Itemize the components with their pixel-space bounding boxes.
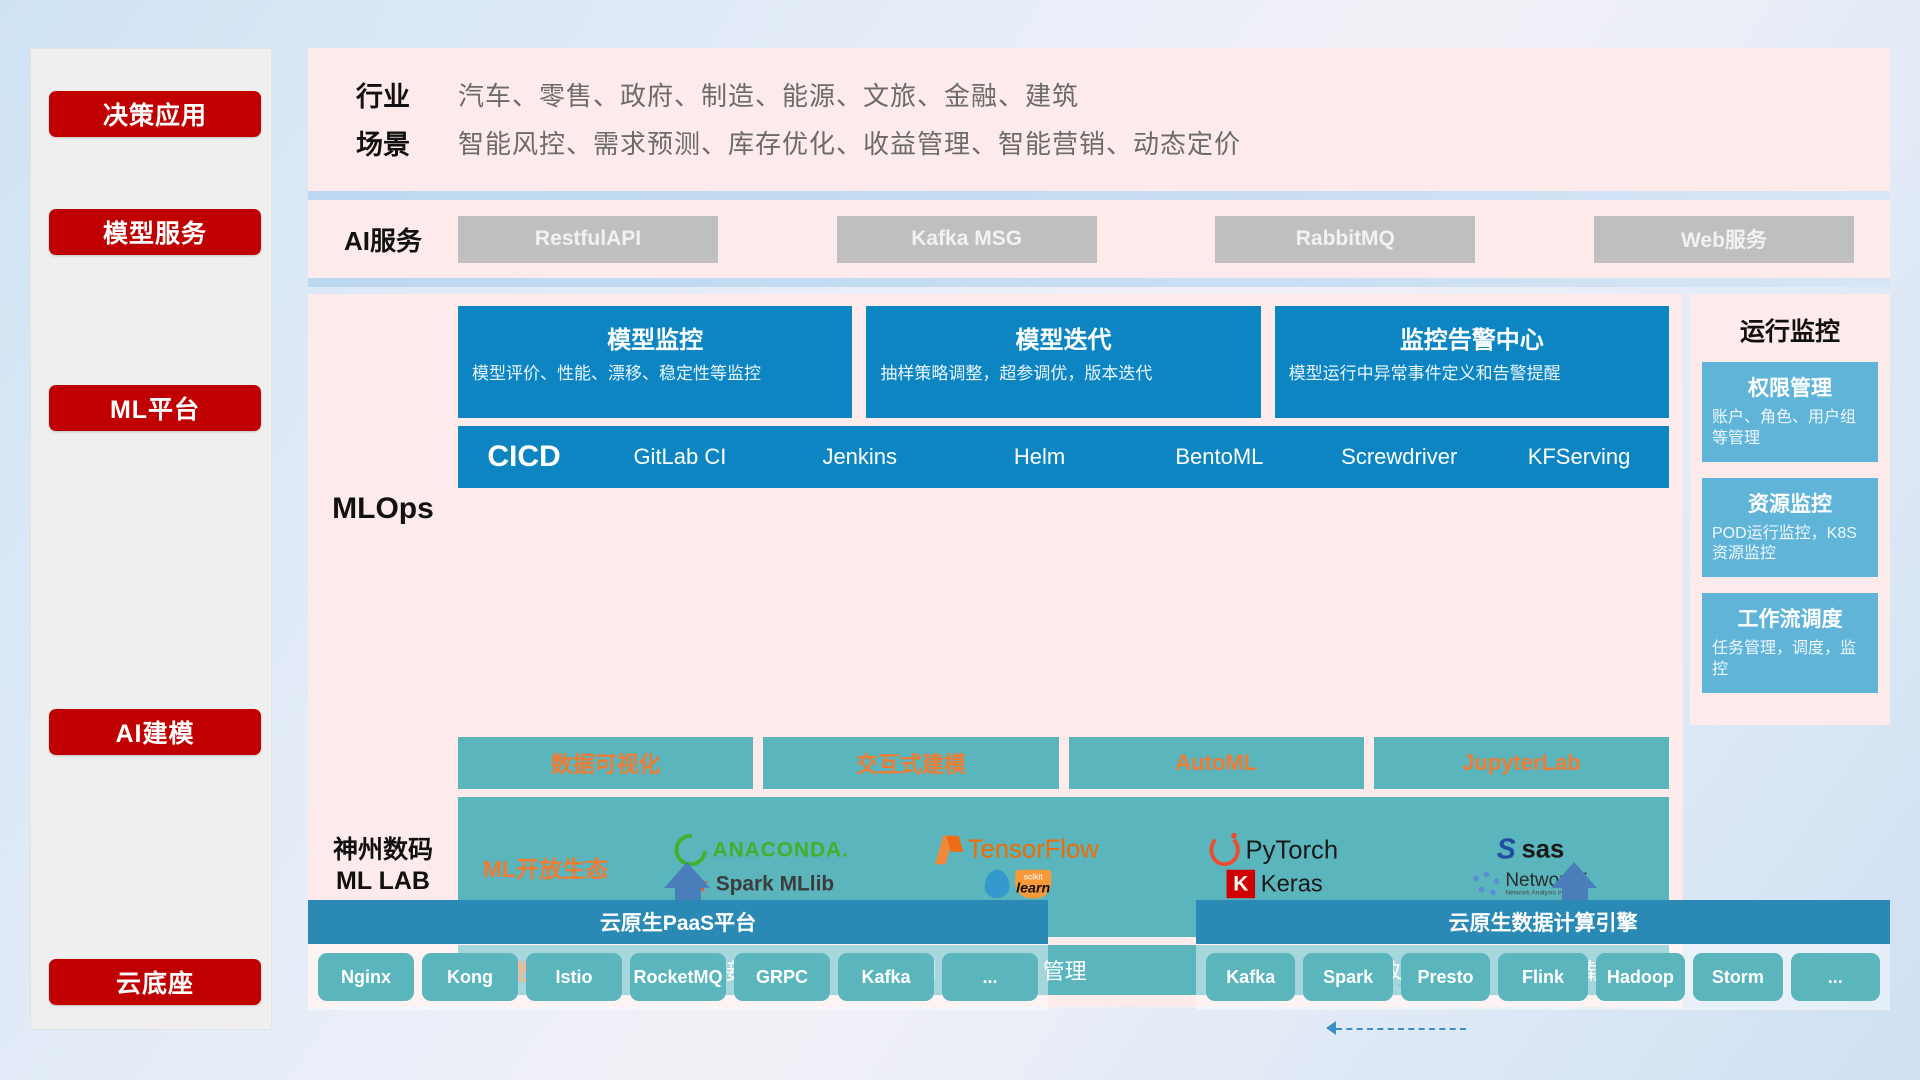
sas-logo-text: sas — [1522, 835, 1565, 864]
paas-chip-rocketmq[interactable]: RocketMQ — [630, 953, 726, 1001]
tab-label: 交互式建模 — [856, 747, 966, 779]
layer-rail: 决策应用 模型服务 ML平台 AI建模 云底座 — [30, 48, 272, 1030]
paas-chip-kafka[interactable]: Kafka — [838, 953, 934, 1001]
decision-app-band: 行业 汽车、零售、政府、制造、能源、文旅、金融、建筑 场景 智能风控、需求预测、… — [308, 48, 1890, 191]
compute-chip-kafka[interactable]: Kafka — [1206, 953, 1295, 1001]
cloud-base-section: 云原生PaaS平台 Nginx Kong Istio RocketMQ GRPC… — [308, 862, 1890, 1022]
chip-label: ... — [982, 968, 997, 987]
industry-label: 行业 — [308, 75, 458, 114]
service-chip-label: RabbitMQ — [1296, 227, 1395, 251]
rail-item-label: 决策应用 — [103, 96, 207, 132]
paas-platform-title: 云原生PaaS平台 — [308, 900, 1048, 944]
mlops-label: MLOps — [308, 306, 458, 713]
tensorflow-logo-text: TensorFlow — [967, 835, 1098, 864]
tab-label: 数据可视化 — [551, 747, 661, 779]
rail-item-decision-app[interactable]: 决策应用 — [49, 91, 261, 137]
service-chip-kafka-msg[interactable]: Kafka MSG — [837, 216, 1097, 263]
tensorflow-logo: TensorFlow — [937, 835, 1099, 864]
rail-item-label: ML平台 — [110, 390, 200, 426]
compute-chips: Kafka Spark Presto Flink Hadoop Storm ..… — [1196, 944, 1890, 1010]
rail-item-label: 模型服务 — [103, 214, 207, 250]
service-chip-label: Web服务 — [1681, 224, 1767, 254]
cicd-items: GitLab CI Jenkins Helm BentoML Screwdriv… — [590, 446, 1669, 468]
mlops-cards: 模型监控 模型评价、性能、漂移、稳定性等监控 模型迭代 抽样策略调整，超参调优，… — [458, 306, 1669, 418]
chip-label: Kafka — [861, 968, 910, 987]
compute-chip-spark[interactable]: Spark — [1303, 953, 1392, 1001]
compute-engine-title: 云原生数据计算引擎 — [1196, 900, 1890, 944]
chip-label: GRPC — [756, 968, 808, 987]
compute-chip-presto[interactable]: Presto — [1401, 953, 1490, 1001]
industry-row: 行业 汽车、零售、政府、制造、能源、文旅、金融、建筑 — [308, 75, 1890, 114]
cicd-item-jenkins[interactable]: Jenkins — [770, 446, 950, 468]
paas-chip-more[interactable]: ... — [942, 953, 1038, 1001]
chip-label: Presto — [1418, 968, 1474, 987]
rail-item-label: 云底座 — [116, 964, 194, 1000]
rail-item-cloud-base[interactable]: 云底座 — [49, 959, 261, 1005]
cicd-item-bentoml[interactable]: BentoML — [1129, 446, 1309, 468]
cicd-row: CICD GitLab CI Jenkins Helm BentoML Scre… — [458, 426, 1669, 488]
rail-item-ai-modeling[interactable]: AI建模 — [49, 709, 261, 755]
tab-interactive-modeling[interactable]: 交互式建模 — [763, 737, 1058, 789]
mlops-card-model-iteration[interactable]: 模型迭代 抽样策略调整，超参调优，版本迭代 — [866, 306, 1260, 418]
rail-item-label: AI建模 — [115, 714, 194, 750]
paas-chip-grpc[interactable]: GRPC — [734, 953, 830, 1001]
mlops-card-model-monitor[interactable]: 模型监控 模型评价、性能、漂移、稳定性等监控 — [458, 306, 852, 418]
mlops-card-title: 监控告警中心 — [1289, 320, 1655, 355]
monitor-card-desc: 账户、角色、用户组等管理 — [1712, 408, 1868, 450]
ml-platform-row: MLOps 模型监控 模型评价、性能、漂移、稳定性等监控 模型迭代 抽样策略调整… — [308, 294, 1890, 725]
ai-service-label: AI服务 — [308, 221, 458, 258]
paas-chip-kong[interactable]: Kong — [422, 953, 518, 1001]
scene-row: 场景 智能风控、需求预测、库存优化、收益管理、智能营销、动态定价 — [308, 123, 1890, 162]
runtime-monitor-title: 运行监控 — [1702, 312, 1878, 348]
chip-label: Nginx — [341, 968, 391, 987]
tab-jupyterlab[interactable]: JupyterLab — [1374, 737, 1669, 789]
paas-platform-box: 云原生PaaS平台 Nginx Kong Istio RocketMQ GRPC… — [308, 900, 1048, 1010]
mlops-card-alert-center[interactable]: 监控告警中心 模型运行中异常事件定义和告警提醒 — [1275, 306, 1669, 418]
chip-label: Hadoop — [1607, 968, 1674, 987]
cicd-item-helm[interactable]: Helm — [950, 446, 1130, 468]
chip-label: Storm — [1712, 968, 1764, 987]
cicd-label: CICD — [458, 440, 590, 474]
band-divider — [308, 191, 1890, 200]
service-chip-restfulapi[interactable]: RestfulAPI — [458, 216, 718, 263]
chip-label: Kong — [447, 968, 493, 987]
chip-label: Kafka — [1226, 968, 1275, 987]
monitor-card-permission[interactable]: 权限管理 账户、角色、用户组等管理 — [1702, 362, 1878, 462]
service-chip-rabbitmq[interactable]: RabbitMQ — [1215, 216, 1475, 263]
rail-item-ml-platform[interactable]: ML平台 — [49, 385, 261, 431]
service-chip-label: Kafka MSG — [911, 227, 1022, 251]
mlops-card-desc: 模型运行中异常事件定义和告警提醒 — [1289, 363, 1655, 386]
tab-label: AutoML — [1175, 750, 1257, 776]
compute-chip-storm[interactable]: Storm — [1693, 953, 1782, 1001]
chip-label: Istio — [555, 968, 592, 987]
ai-service-items: RestfulAPI Kafka MSG RabbitMQ Web服务 — [458, 216, 1890, 263]
tensorflow-mark-icon — [937, 836, 962, 865]
tab-data-visualization[interactable]: 数据可视化 — [458, 737, 753, 789]
chip-label: ... — [1828, 968, 1843, 987]
mlops-card-desc: 抽样策略调整，超参调优，版本迭代 — [880, 363, 1246, 386]
paas-chip-nginx[interactable]: Nginx — [318, 953, 414, 1001]
mlops-band: MLOps 模型监控 模型评价、性能、漂移、稳定性等监控 模型迭代 抽样策略调整… — [308, 294, 1683, 725]
pytorch-logo-text: PyTorch — [1246, 835, 1339, 864]
cicd-item-gitlab-ci[interactable]: GitLab CI — [590, 446, 770, 468]
industry-value: 汽车、零售、政府、制造、能源、文旅、金融、建筑 — [458, 76, 1079, 113]
chip-label: Flink — [1522, 968, 1564, 987]
sas-logo: S sas — [1497, 835, 1565, 864]
paas-chips: Nginx Kong Istio RocketMQ GRPC Kafka ... — [308, 944, 1048, 1010]
scene-value: 智能风控、需求预测、库存优化、收益管理、智能营销、动态定价 — [458, 124, 1241, 161]
rail-item-model-service[interactable]: 模型服务 — [49, 209, 261, 255]
anaconda-logo-text: ANACONDA. — [712, 837, 848, 862]
service-chip-label: RestfulAPI — [535, 227, 641, 251]
mlops-card-title: 模型监控 — [472, 320, 838, 355]
chip-label: RocketMQ — [633, 968, 722, 987]
mlops-content: 模型监控 模型评价、性能、漂移、稳定性等监控 模型迭代 抽样策略调整，超参调优，… — [458, 306, 1683, 713]
mlops-card-desc: 模型评价、性能、漂移、稳定性等监控 — [472, 363, 838, 386]
compute-chip-flink[interactable]: Flink — [1498, 953, 1587, 1001]
service-chip-web[interactable]: Web服务 — [1594, 216, 1854, 263]
cicd-item-kfserving[interactable]: KFServing — [1489, 446, 1669, 468]
monitor-card-title: 权限管理 — [1712, 372, 1868, 402]
ai-service-band: AI服务 RestfulAPI Kafka MSG RabbitMQ Web服务 — [308, 200, 1890, 278]
mlops-card-title: 模型迭代 — [880, 320, 1246, 355]
compute-chip-more[interactable]: ... — [1791, 953, 1880, 1001]
tab-label: JupyterLab — [1462, 750, 1581, 776]
architecture-diagram: 决策应用 模型服务 ML平台 AI建模 云底座 行业 汽车、零售、政府、制造、能… — [0, 0, 1920, 1080]
chip-label: Spark — [1323, 968, 1373, 987]
tab-automl[interactable]: AutoML — [1069, 737, 1364, 789]
compute-engine-box: 云原生数据计算引擎 Kafka Spark Presto Flink Hadoo… — [1196, 900, 1890, 1010]
band-divider — [308, 278, 1890, 287]
paas-chip-istio[interactable]: Istio — [526, 953, 622, 1001]
cicd-item-screwdriver[interactable]: Screwdriver — [1309, 446, 1489, 468]
modeling-tabs: 数据可视化 交互式建模 AutoML JupyterLab — [458, 737, 1669, 789]
compute-chip-hadoop[interactable]: Hadoop — [1596, 953, 1685, 1001]
scene-label: 场景 — [308, 123, 458, 162]
sas-swirl-icon: S — [1497, 836, 1516, 865]
